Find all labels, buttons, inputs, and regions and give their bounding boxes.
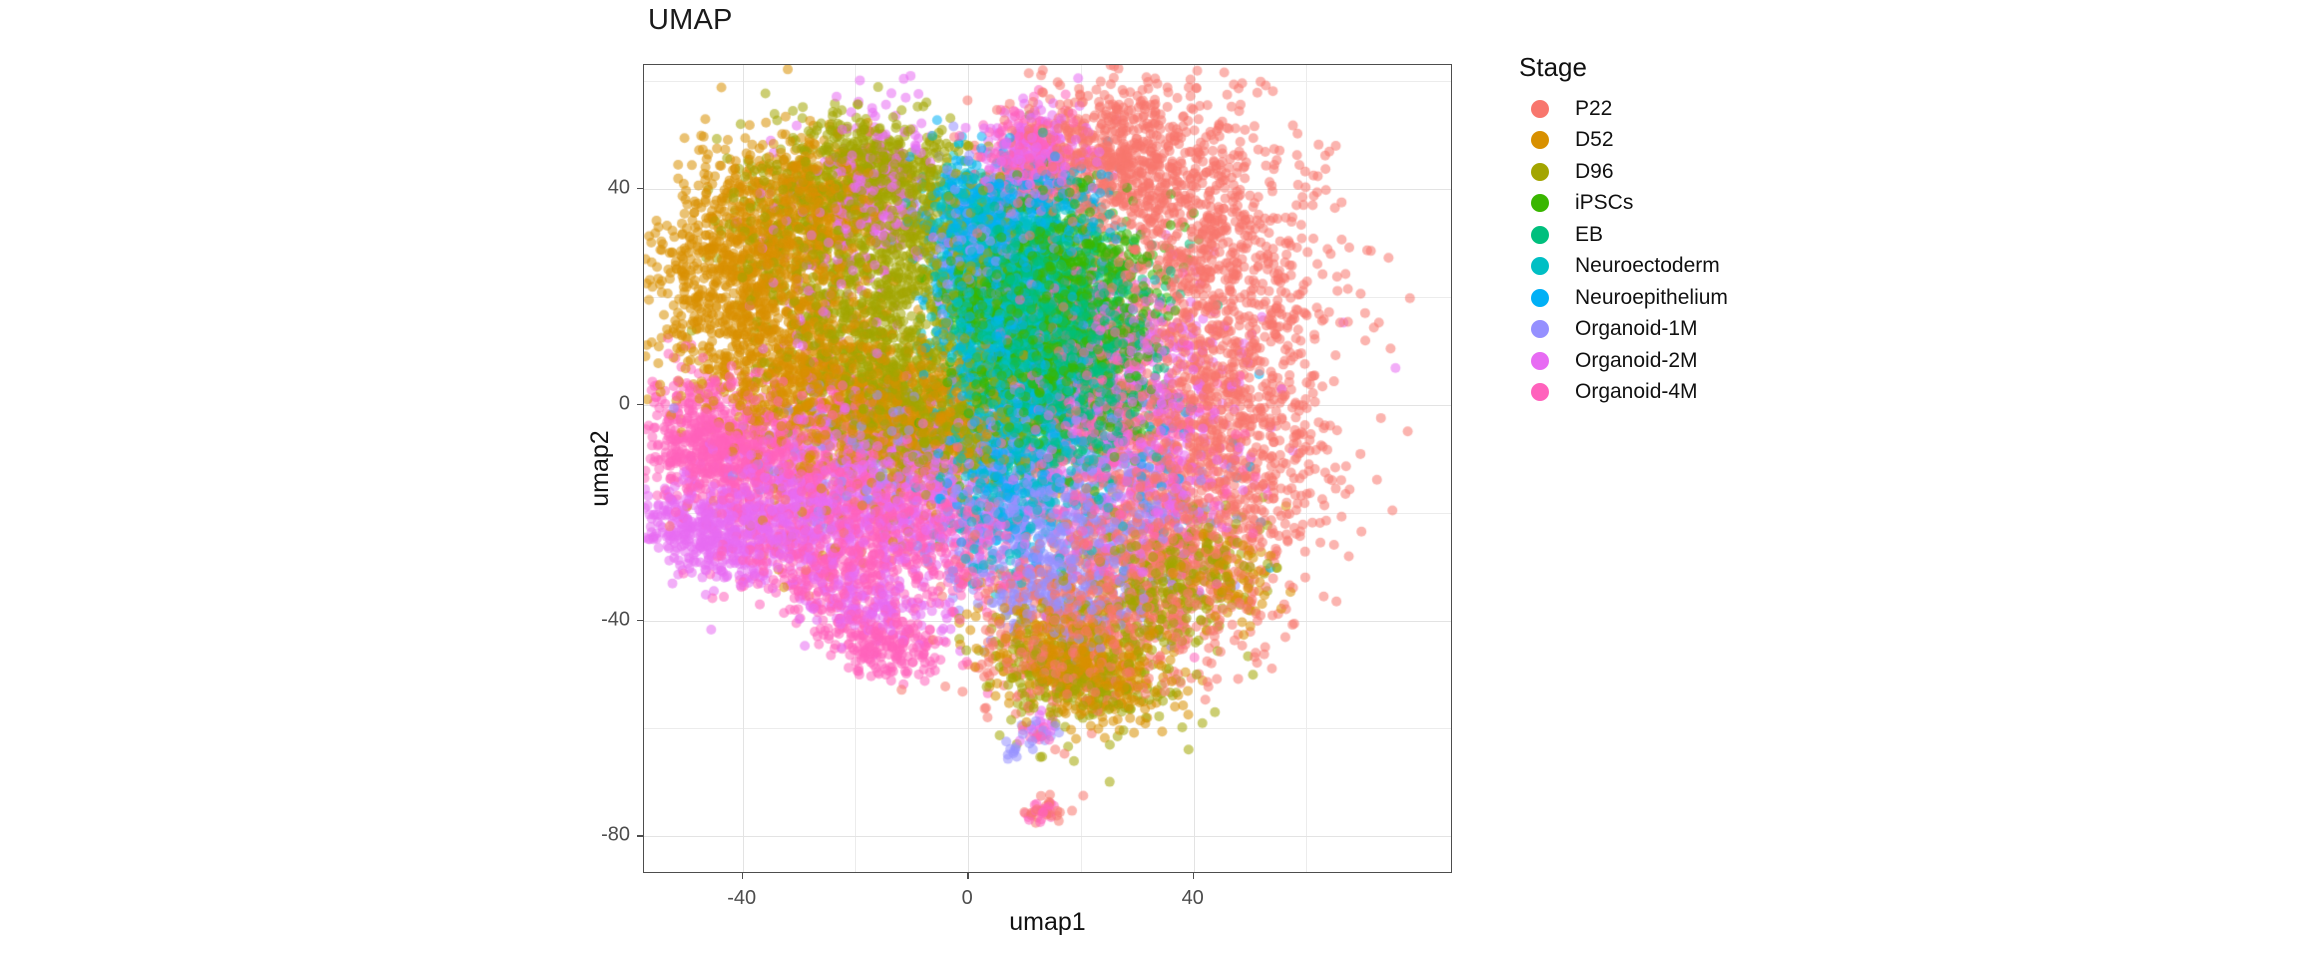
legend-item-label: Neuroectoderm (1575, 254, 1720, 278)
legend-item-neuroectoderm[interactable]: Neuroectoderm (1517, 251, 1897, 283)
x-axis-tick-label: 0 (962, 887, 973, 910)
y-axis-tick (637, 404, 643, 405)
legend-key-icon (1531, 194, 1549, 212)
legend-item-d96[interactable]: D96 (1517, 156, 1897, 188)
legend-key-icon (1531, 100, 1549, 118)
x-axis-tick-label: -40 (727, 887, 756, 910)
x-axis-tick (1193, 873, 1194, 879)
legend-title: Stage (1519, 52, 1897, 83)
legend-item-label: Organoid-2M (1575, 349, 1698, 373)
legend-key-icon (1531, 163, 1549, 181)
legend-key-icon (1531, 226, 1549, 244)
legend-item-label: Organoid-1M (1575, 317, 1698, 341)
umap-figure: UMAP umap1 umap2 Stage P22D52D96iPSCsEBN… (0, 0, 2304, 960)
legend-key-icon (1531, 289, 1549, 307)
y-axis-tick-label: -80 (601, 824, 630, 847)
y-axis-tick-label: 0 (619, 392, 630, 415)
legend-item-neuroepithelium[interactable]: Neuroepithelium (1517, 282, 1897, 314)
x-axis-tick (967, 873, 968, 879)
legend-item-label: Organoid-4M (1575, 380, 1698, 404)
legend-key-icon (1531, 352, 1549, 370)
legend-item-label: Neuroepithelium (1575, 286, 1728, 310)
legend-item-d52[interactable]: D52 (1517, 125, 1897, 157)
y-axis-tick (637, 835, 643, 836)
legend-item-organoid-2m[interactable]: Organoid-2M (1517, 345, 1897, 377)
plot-panel (643, 64, 1452, 873)
legend-item-organoid-1m[interactable]: Organoid-1M (1517, 314, 1897, 346)
x-axis-tick-label: 40 (1182, 887, 1204, 910)
y-axis-label: umap2 (586, 430, 615, 506)
y-axis-tick-label: -40 (601, 608, 630, 631)
x-axis-tick (742, 873, 743, 879)
legend-items: P22D52D96iPSCsEBNeuroectodermNeuroepithe… (1517, 93, 1897, 408)
legend-item-ipscs[interactable]: iPSCs (1517, 188, 1897, 220)
legend-key-icon (1531, 320, 1549, 338)
page-title: UMAP (648, 4, 733, 37)
y-axis-tick (637, 188, 643, 189)
legend-item-organoid-4m[interactable]: Organoid-4M (1517, 377, 1897, 409)
legend-item-label: iPSCs (1575, 191, 1633, 215)
legend-key-icon (1531, 131, 1549, 149)
y-axis-tick-label: 40 (608, 177, 630, 200)
legend-item-label: D52 (1575, 128, 1614, 152)
legend-item-label: D96 (1575, 160, 1614, 184)
x-axis-label: umap1 (643, 908, 1452, 937)
legend-item-p22[interactable]: P22 (1517, 93, 1897, 125)
legend-item-label: EB (1575, 223, 1603, 247)
legend-item-eb[interactable]: EB (1517, 219, 1897, 251)
legend-key-icon (1531, 383, 1549, 401)
legend-key-icon (1531, 257, 1549, 275)
scatter-points (644, 65, 1451, 872)
legend: Stage P22D52D96iPSCsEBNeuroectodermNeuro… (1517, 52, 1897, 408)
y-axis-tick (637, 620, 643, 621)
legend-item-label: P22 (1575, 97, 1612, 121)
